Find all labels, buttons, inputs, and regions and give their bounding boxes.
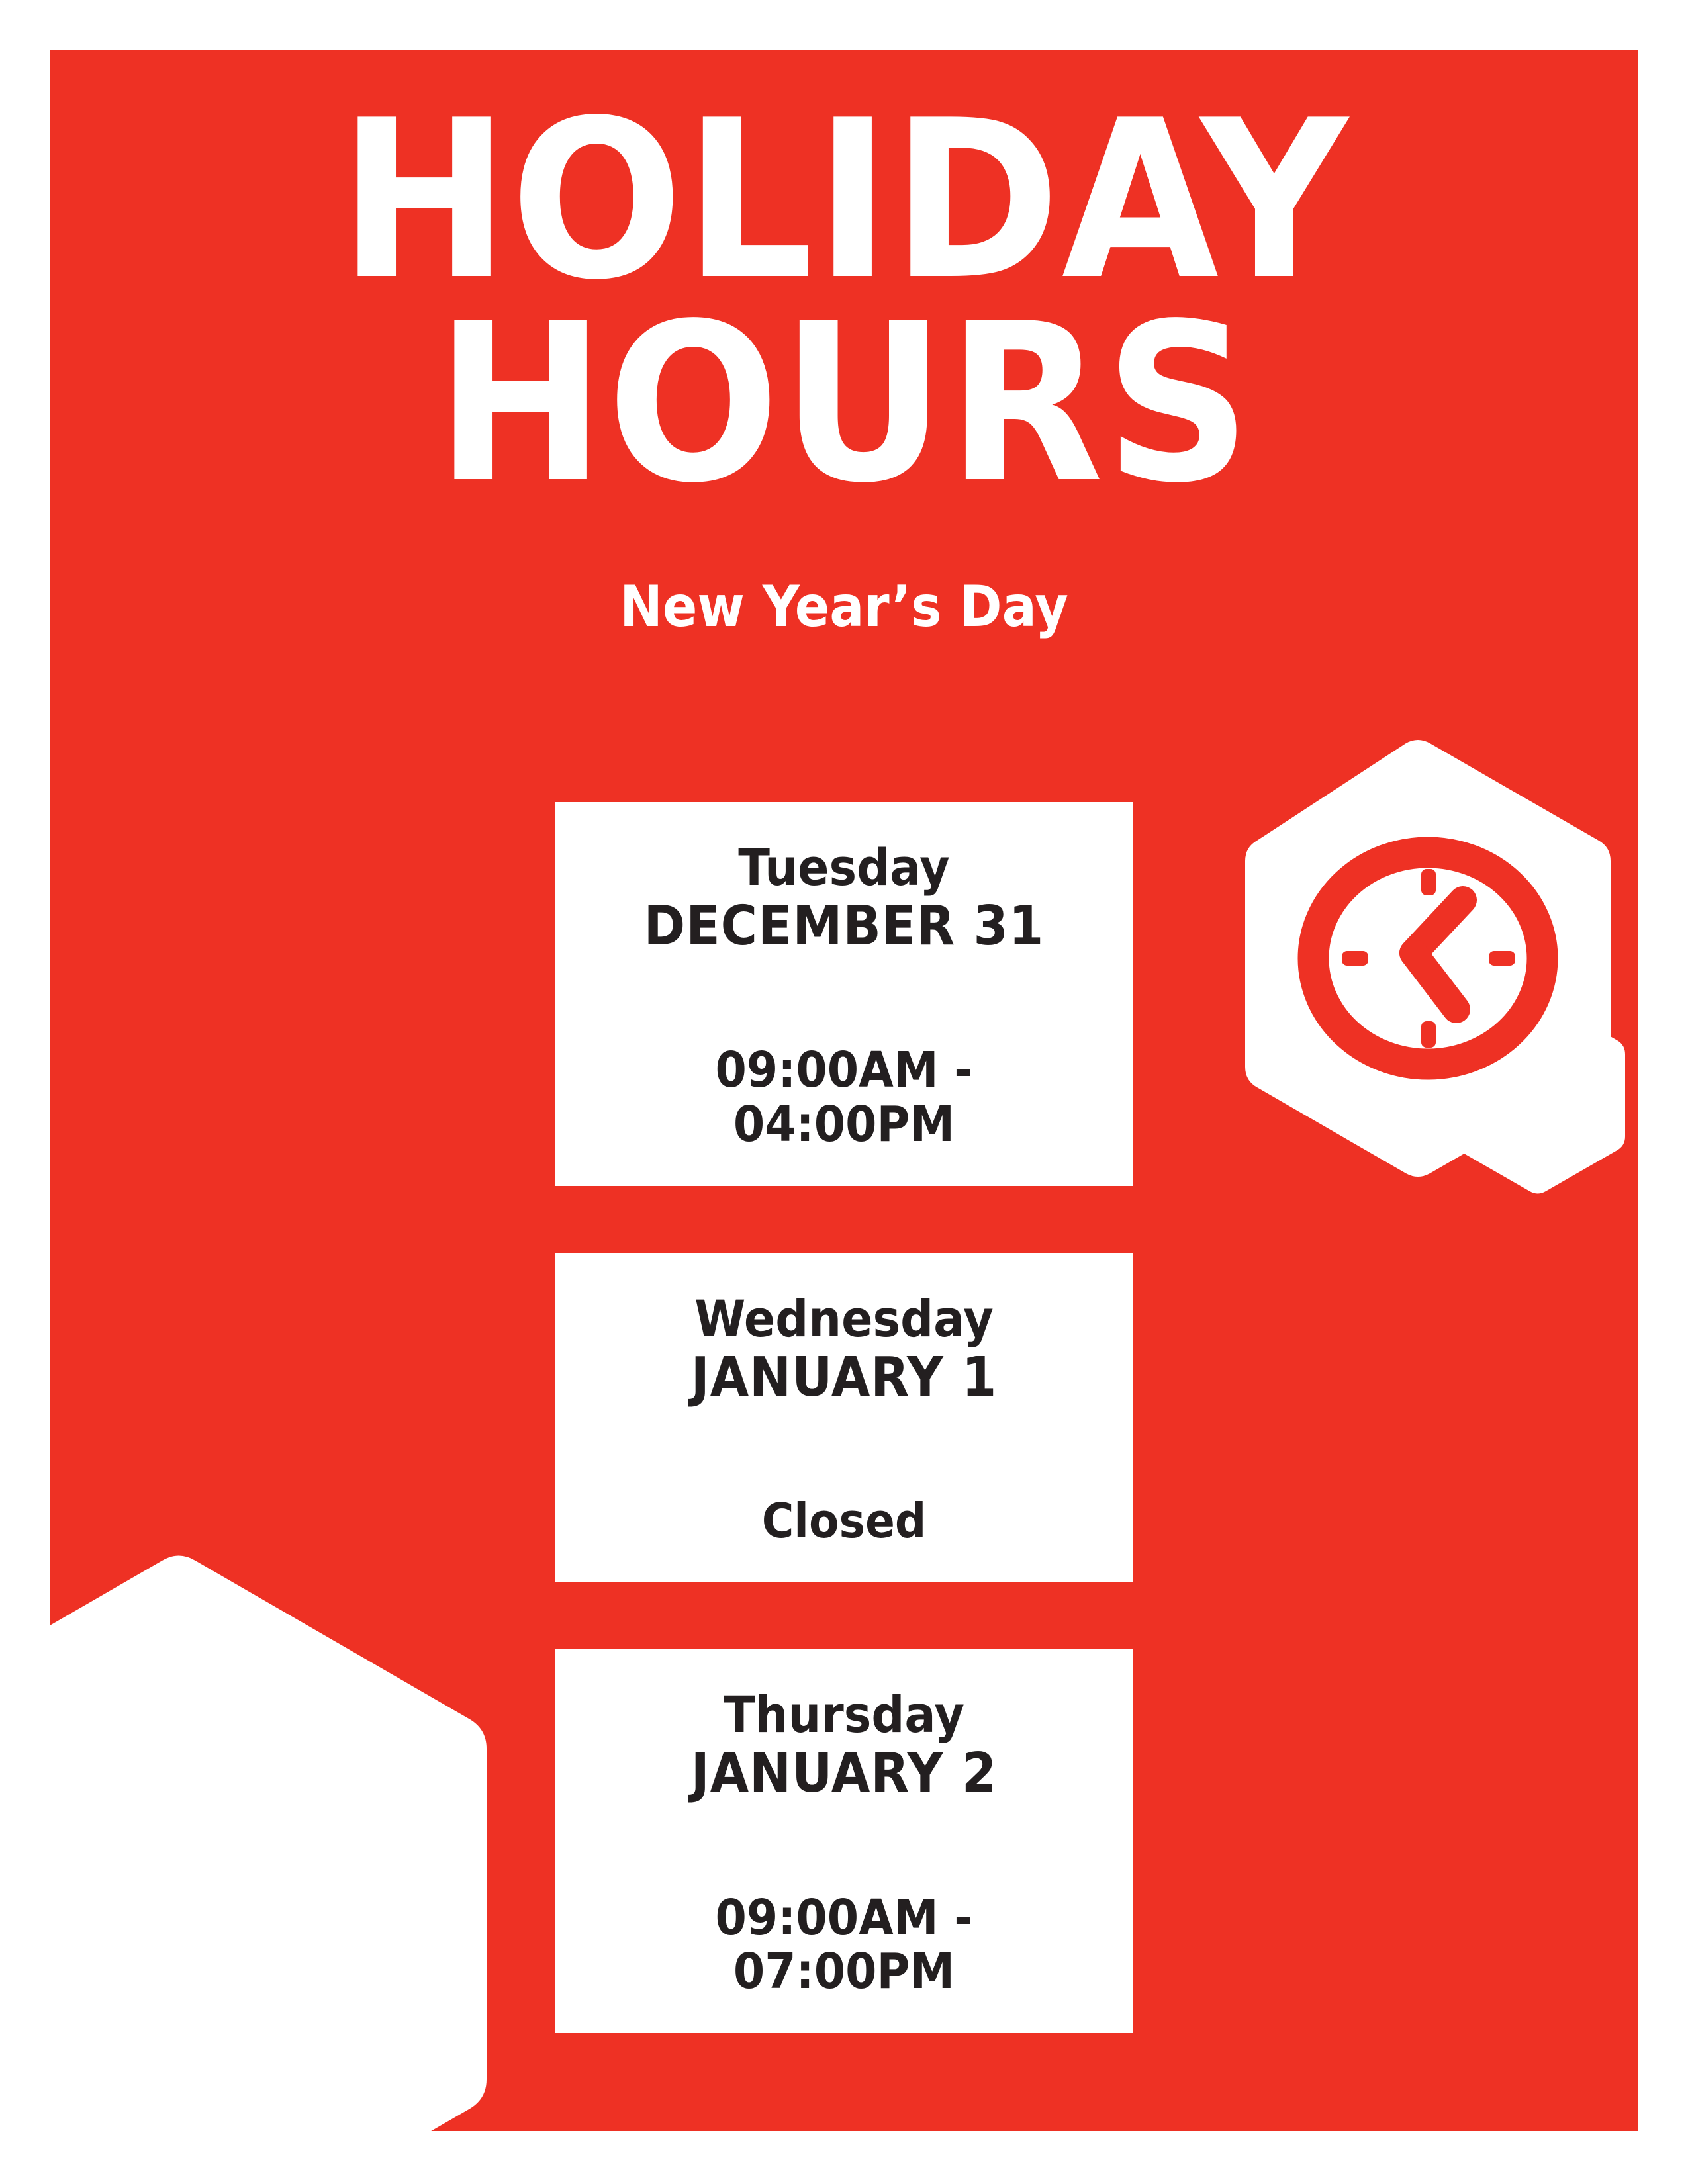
- clock-hexagon-icon: [1228, 718, 1632, 1267]
- card-weekday: Wednesday: [602, 1292, 1086, 1346]
- card-hours: 09:00AM - 04:00PM: [602, 1044, 1086, 1152]
- schedule-list: Tuesday DECEMBER 31 09:00AM - 04:00PM We…: [555, 802, 1133, 2033]
- card-date: JANUARY 2: [602, 1742, 1086, 1805]
- card-weekday: Tuesday: [602, 841, 1086, 895]
- card-date: JANUARY 1: [602, 1346, 1086, 1409]
- schedule-card: Wednesday JANUARY 1 Closed: [555, 1253, 1133, 1582]
- page-title: HOLIDAY HOURS: [105, 99, 1583, 506]
- poster-subtitle: New Year’s Day: [129, 578, 1559, 635]
- card-weekday: Thursday: [602, 1688, 1086, 1742]
- schedule-card: Thursday JANUARY 2 09:00AM - 07:00PM: [555, 1649, 1133, 2033]
- poster-header: HOLIDAY HOURS New Year’s Day: [50, 99, 1638, 635]
- card-hours: Closed: [602, 1495, 1086, 1547]
- hexagon-decoration-icon: [0, 1509, 503, 2184]
- holiday-hours-poster: HOLIDAY HOURS New Year’s Day Tuesday: [0, 0, 1688, 2184]
- card-hours: 09:00AM - 07:00PM: [602, 1891, 1086, 1999]
- card-date: DECEMBER 31: [602, 895, 1086, 958]
- schedule-card: Tuesday DECEMBER 31 09:00AM - 04:00PM: [555, 802, 1133, 1186]
